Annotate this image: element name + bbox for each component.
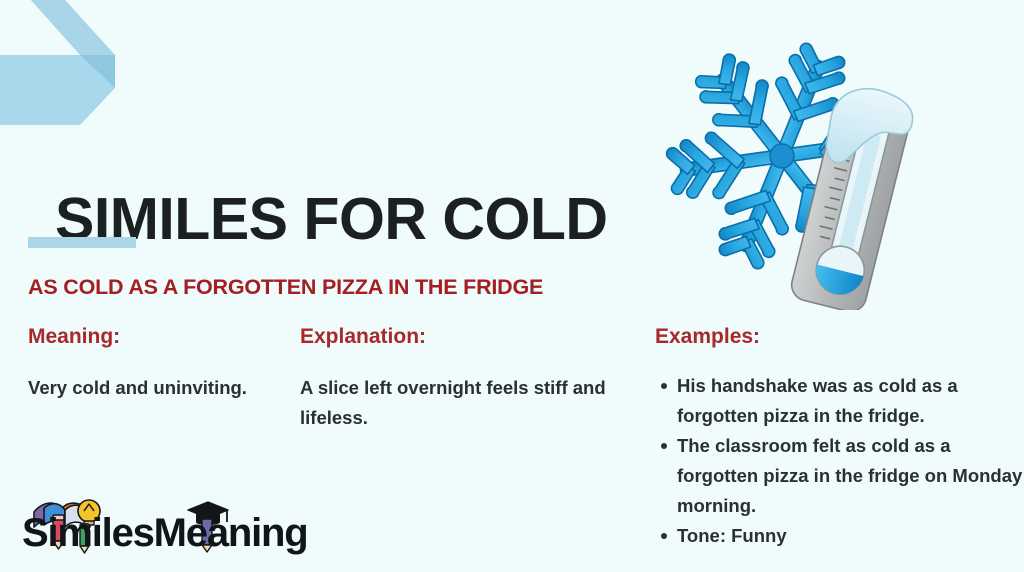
brand-logo[interactable]: SimilesMeaning	[12, 497, 302, 555]
meaning-body: Very cold and uninviting.	[28, 373, 268, 403]
examples-heading: Examples:	[655, 324, 760, 350]
logo-wordmark: SimilesMeaning	[22, 511, 308, 555]
examples-list: His handshake was as cold as a forgotten…	[655, 371, 1024, 551]
explanation-body: A slice left overnight feels stiff and l…	[300, 373, 630, 433]
list-item: Tone: Funny	[677, 521, 1024, 551]
explanation-heading: Explanation:	[300, 324, 426, 350]
page-title: SIMILES FOR COLD	[55, 186, 608, 252]
accent-bar-divider	[28, 237, 136, 248]
meaning-heading: Meaning:	[28, 324, 120, 350]
snowflake-thermometer-illustration	[664, 18, 932, 310]
simile-headline: AS COLD AS A FORGOTTEN PIZZA IN THE FRID…	[28, 274, 543, 300]
ribbon-decoration	[0, 0, 150, 130]
list-item: His handshake was as cold as a forgotten…	[677, 371, 1024, 431]
list-item: The classroom felt as cold as a forgotte…	[677, 431, 1024, 521]
poster-canvas: SIMILES FOR COLD AS COLD AS A FORGOTTEN …	[0, 0, 1024, 572]
